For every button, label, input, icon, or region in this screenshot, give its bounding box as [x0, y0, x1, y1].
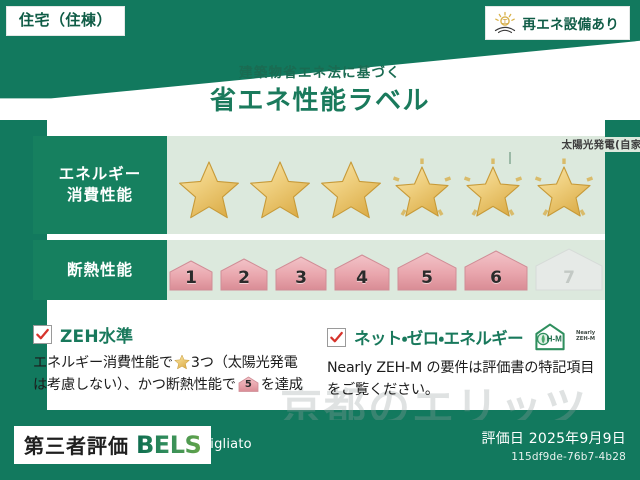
inline-insulation-badge: 5 — [238, 376, 259, 392]
label-title: 省エネ性能ラベル — [0, 80, 640, 117]
energy-performance-row: エネルギー 消費性能 太陽光発電(自家消費)分 — [33, 136, 605, 234]
net-zero-energy-block: ネット・ゼロ・エネルギー H-M Nearly ZEH-M Nearly ZEH… — [327, 322, 605, 401]
insulation-level-number: 3 — [273, 268, 329, 288]
inline-star-icon — [174, 354, 190, 370]
energy-key-line2: 消費性能 — [67, 185, 133, 206]
evaluation-info: 評価日 2025年9月9日 115df9de-76b7-4b28 — [481, 428, 626, 463]
building-type-tab: 住宅（住棟） — [6, 6, 125, 36]
insulation-level-number: 6 — [462, 268, 530, 288]
zeh-standard-description: エネルギー消費性能で 3つ（太陽光発電は考慮しない）、かつ断熱性能で 5 を達成 — [33, 352, 311, 396]
insulation-level-badge: 4 — [332, 253, 392, 291]
energy-stars-container — [167, 136, 605, 234]
property-name: Gigliato — [200, 437, 252, 452]
zeh-m-logo-icon: H-M — [533, 322, 567, 352]
evaluation-date: 評価日 2025年9月9日 — [481, 428, 626, 448]
net-zero-energy-description: Nearly ZEH-M の要件は評価書の特記項目をご覧ください。 — [327, 357, 605, 401]
label-subtitle: 建築物省エネ法に基づく — [0, 61, 640, 81]
zeh-standard-title: ZEH水準 — [60, 322, 133, 347]
energy-star — [177, 158, 241, 222]
evaluation-id: 115df9de-76b7-4b28 — [481, 451, 626, 463]
inline-badge-value: 5 — [238, 377, 259, 393]
energy-star-solar — [461, 158, 525, 222]
insulation-level-badge-inactive: 7 — [533, 247, 605, 291]
grading-panel: エネルギー 消費性能 太陽光発電(自家消費)分 — [33, 136, 605, 306]
zeh-m-logo-caption: Nearly ZEH-M — [576, 331, 595, 343]
insulation-performance-value: 1 2 3 — [167, 240, 605, 300]
evaluation-date-value: 2025年9月9日 — [529, 431, 626, 447]
net-zero-energy-header: ネット・ゼロ・エネルギー H-M Nearly ZEH-M — [327, 322, 605, 352]
zeh-desc-part2: は考慮しない）、かつ断熱性能で — [33, 377, 236, 393]
insulation-level-badge: 2 — [218, 257, 270, 291]
bels-logo-text: BELS — [136, 431, 201, 459]
insulation-level-badge-achieved: 6 — [462, 249, 530, 291]
energy-star-solar — [532, 158, 596, 222]
net-zero-energy-title: ネット・ゼロ・エネルギー — [354, 325, 523, 349]
zeh-desc-part1: エネルギー消費性能で — [33, 355, 173, 371]
energy-star — [248, 158, 312, 222]
evaluation-date-label: 評価日 — [481, 431, 524, 447]
insulation-levels-container: 1 2 3 — [167, 240, 605, 300]
zeh-desc-part3: を達成 — [261, 377, 303, 393]
zeh-desc-star-count: 3つ（太陽光発電 — [191, 355, 298, 371]
insulation-level-number: 4 — [332, 268, 392, 288]
insulation-level-number: 5 — [395, 268, 459, 288]
checkbox-checked-icon — [33, 325, 52, 344]
insulation-level-number: 2 — [218, 268, 270, 288]
insulation-level-badge: 1 — [167, 259, 215, 291]
insulation-level-number: 7 — [533, 268, 605, 288]
zeh-standard-header: ZEH水準 — [33, 322, 311, 347]
energy-performance-key: エネルギー 消費性能 — [33, 136, 167, 234]
renewable-badge-label: 再エネ設備あり — [522, 13, 619, 33]
insulation-level-badge: 5 — [395, 251, 459, 291]
svg-text:工: 工 — [503, 19, 509, 26]
energy-star-solar — [390, 158, 454, 222]
renewable-energy-badge: 工 再エネ設備あり — [485, 6, 630, 40]
checkbox-checked-icon — [327, 328, 346, 347]
insulation-performance-row: 断熱性能 1 — [33, 240, 605, 300]
insulation-level-number: 1 — [167, 268, 215, 288]
energy-star — [319, 158, 383, 222]
zeh-logo-caption-line2: ZEH-M — [576, 336, 595, 342]
insulation-key-line1: 断熱性能 — [67, 260, 133, 281]
energy-performance-label: 住宅（住棟） 工 再エネ設備あり 建築物省エネ法に基づく 省エネ性能ラベル — [0, 0, 640, 480]
energy-key-line1: エネルギー — [59, 164, 142, 185]
bels-certification-box: 第三者評価 BELS — [14, 426, 211, 464]
energy-performance-value: 太陽光発電(自家消費)分 — [167, 136, 605, 234]
third-party-eval-label: 第三者評価 — [24, 430, 129, 459]
svg-text:H-M: H-M — [547, 335, 563, 344]
label-footer: 第三者評価 BELS Gigliato 評価日 2025年9月9日 115df9… — [0, 420, 640, 480]
zeh-criteria-area: ZEH水準 エネルギー消費性能で 3つ（太陽光発電は考慮しない）、かつ断熱性能で… — [33, 322, 605, 401]
insulation-level-badge: 3 — [273, 255, 329, 291]
insulation-performance-key: 断熱性能 — [33, 240, 167, 300]
solar-sun-icon: 工 — [493, 11, 517, 35]
zeh-standard-block: ZEH水準 エネルギー消費性能で 3つ（太陽光発電は考慮しない）、かつ断熱性能で… — [33, 322, 311, 401]
